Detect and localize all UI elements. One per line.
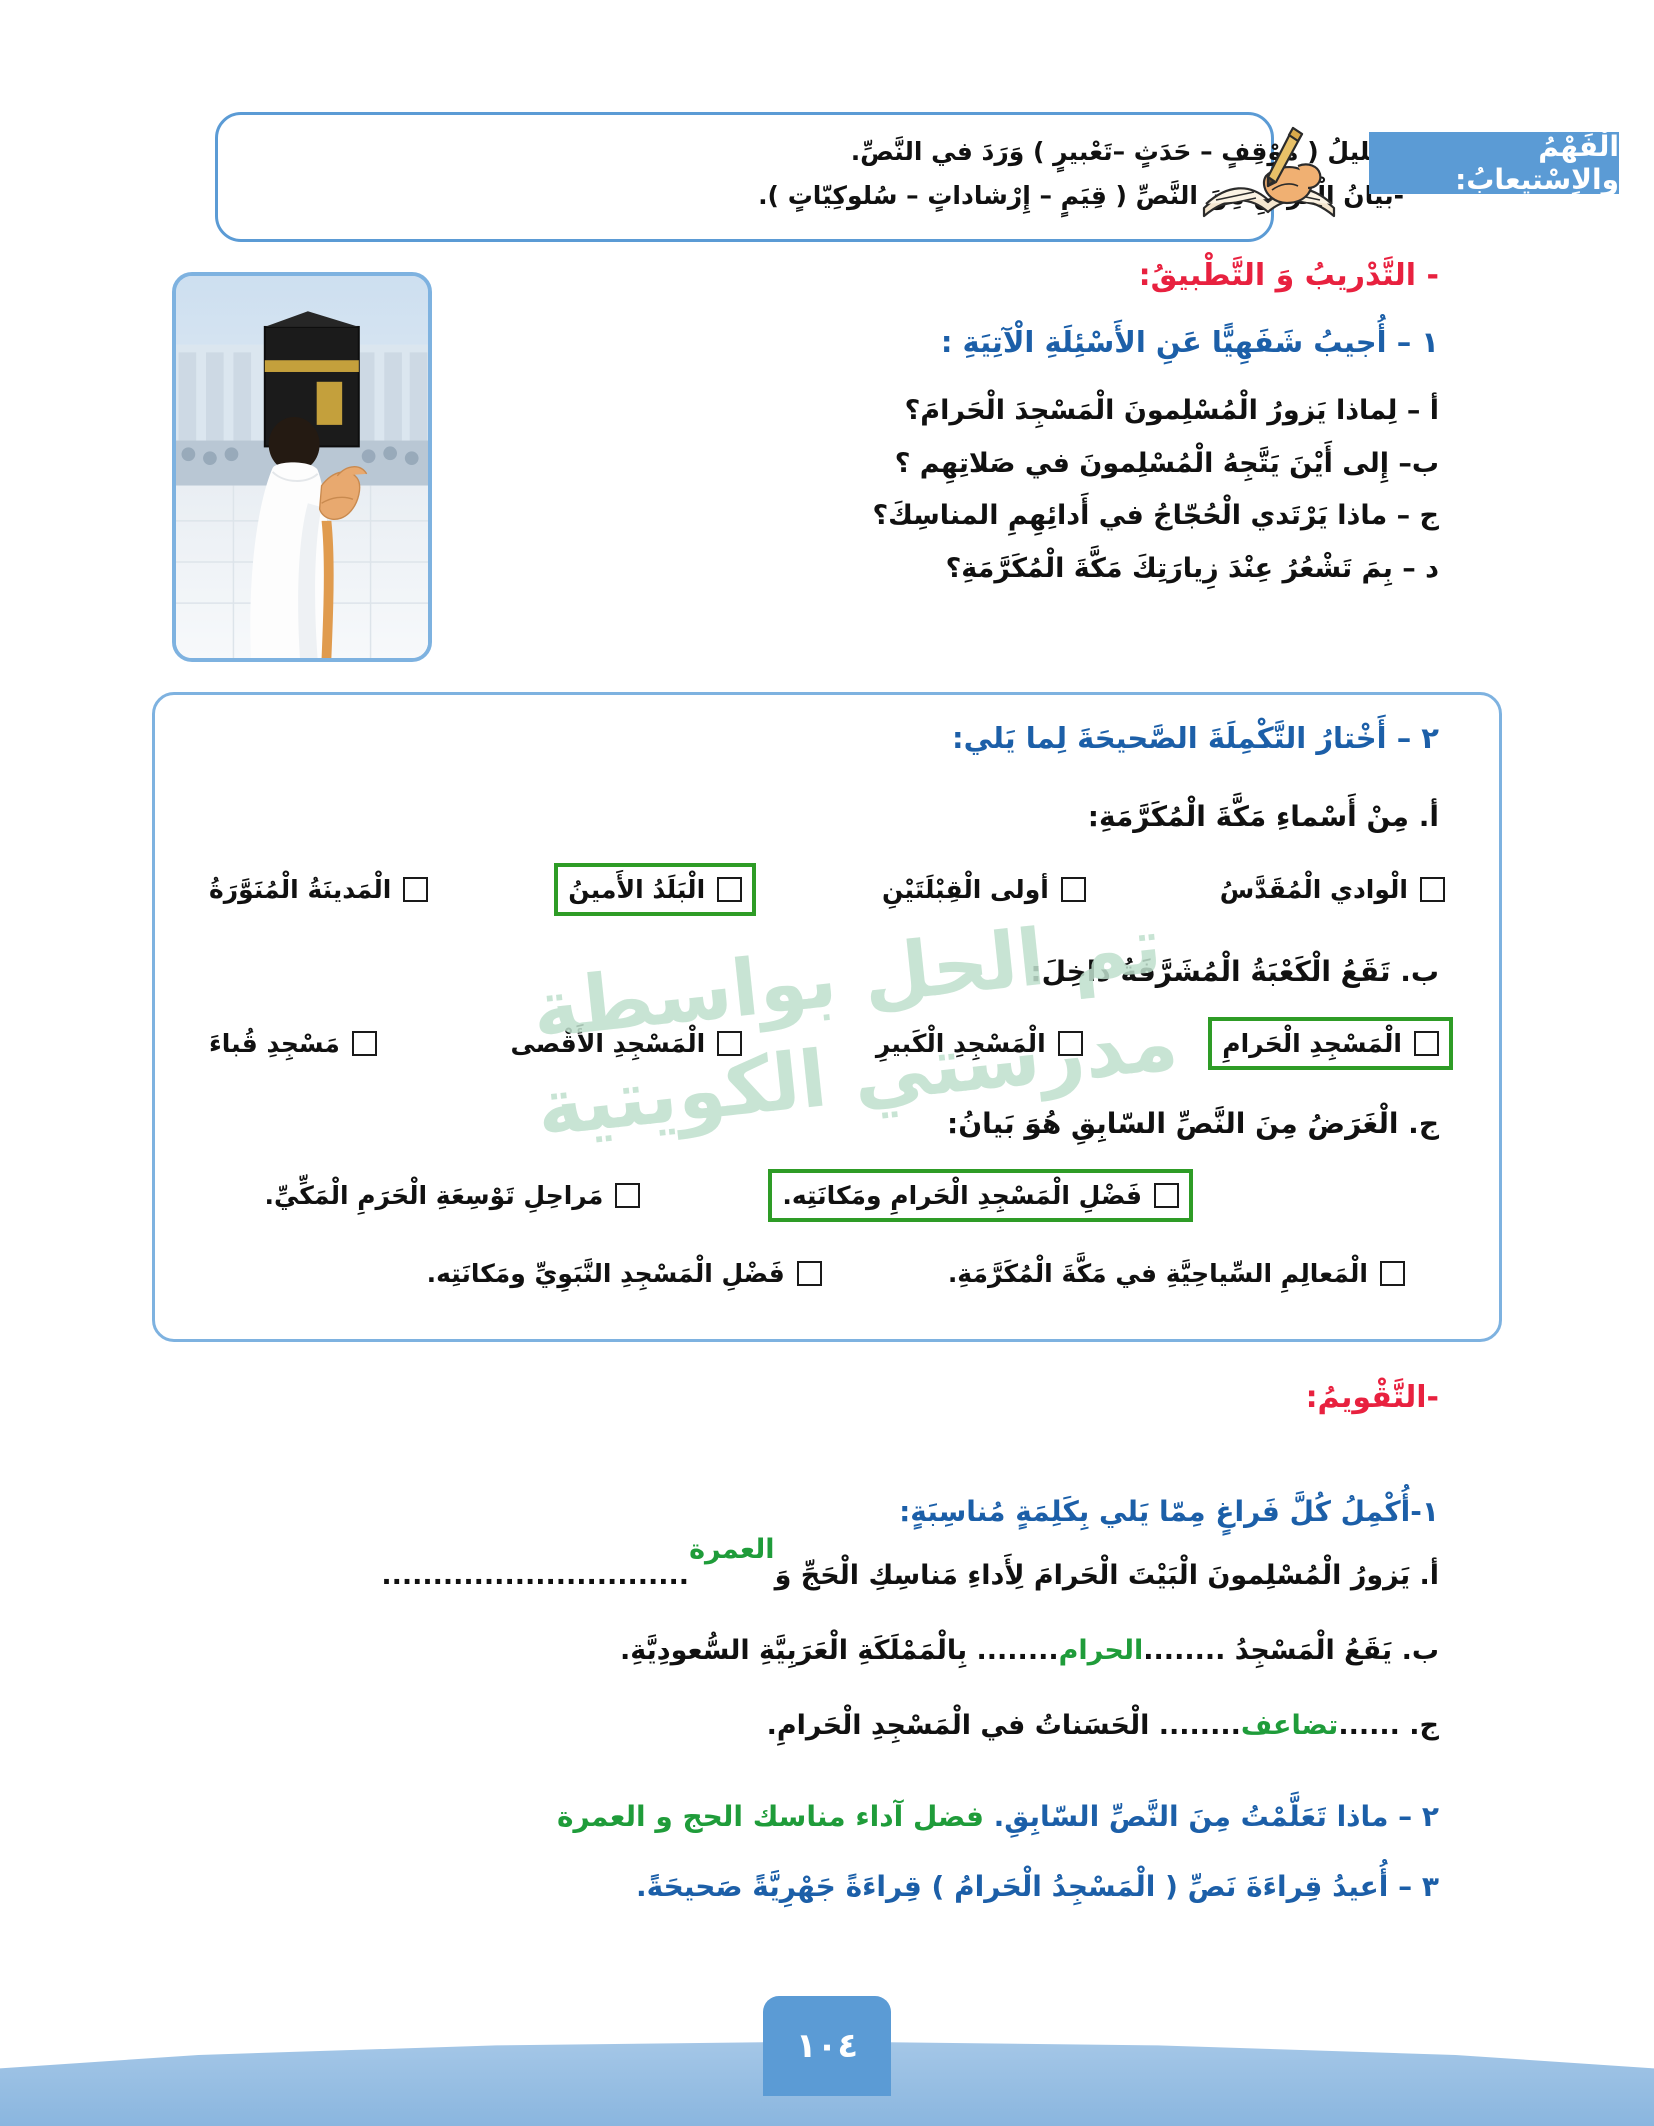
mcq-option-label: الْمَدينَةُ الْمُنَوَّرَةُ [209,875,391,904]
fill-blank-b-answer: الحرام [1059,1635,1144,1666]
mcq-option-b-3[interactable]: الْمَسْجِدِ الأَقْصى [502,1025,750,1062]
mcq-option-label: الْمَسْجِدِ الأَقْصى [510,1029,705,1058]
checkbox-icon[interactable] [1154,1183,1179,1208]
checkbox-icon[interactable] [1380,1261,1405,1286]
mcq-option-a-2[interactable]: أولى الْقِبْلَتَيْنِ [874,871,1094,908]
fill-blank-a-answer: العمرة [689,1534,774,1565]
fill-blank-b: ب. يَقَعُ الْمَسْجِدُ ........الحرام....… [620,1635,1439,1666]
evaluation-heading: -التَّقْويمُ: [1306,1380,1439,1415]
question-1-item-a: أ – لِماذا يَزورُ الْمُسْلِمونَ الْمَسْج… [872,385,1439,438]
question-1-title: ١ – أُجيبُ شَفَهِيًّا عَنِ الأَسْئِلَةِ … [941,325,1439,359]
evaluation-q2: ٢ – ماذا تَعَلَّمْتُ مِنَ النَّصِّ السّا… [557,1800,1439,1833]
mcq-option-a-1[interactable]: الْوادي الْمُقَدَّسُ [1212,871,1453,908]
fill-blank-b-dots2: ........ [977,1635,1059,1666]
mcq-option-label: الْبَلَدُ الأَمينُ [568,875,705,904]
question-2-panel: ٢ – أَخْتارُ التَّكْمِلَةَ الصَّحيحَةَ ل… [152,692,1502,1342]
mcq-option-label: الْمَعالِمِ السِّياحِيَّةِ في مَكَّةَ ال… [948,1259,1368,1288]
mcq-option-c-3[interactable]: الْمَعالِمِ السِّياحِيَّةِ في مَكَّةَ ال… [940,1255,1413,1292]
checkbox-icon[interactable] [797,1261,822,1286]
checkbox-icon[interactable] [1420,877,1445,902]
mcq-options-c-row-1: فَضْلِ الْمَسْجِدِ الْحَرامِ ومَكانَتِه.… [201,1169,1453,1222]
evaluation-q1-title: ١-أُكْمِلُ كُلَّ فَراغٍ مِمّا يَلي بِكَل… [899,1495,1439,1528]
mcq-option-label: فَضْلِ الْمَسْجِدِ النَّبَوِيِّ ومَكانَت… [427,1259,785,1288]
fill-blank-c-suffix: الْحَسَناتُ في الْمَسْجِدِ الْحَرامِ. [767,1710,1159,1741]
question-1-item-d: د – بِمَ تَشْعُرُ عِنْدَ زِيارَتِكَ مَكَ… [872,543,1439,596]
fill-blank-a-dots: .............................. [381,1560,689,1591]
mcq-option-label: الْمَسْجِدِ الْكَبيرِ [876,1029,1046,1058]
checkbox-icon[interactable] [352,1031,377,1056]
mcq-stem-b: ب. تَقَعُ الْكَعْبَةُ الْمُشَرَّفَةُ داخ… [1030,955,1439,988]
mcq-stem-c: ج. الْغَرَضُ مِنَ النَّصِّ السّابِقِ هُو… [947,1107,1439,1140]
checkbox-icon[interactable] [1414,1031,1439,1056]
mcq-option-label: مَراحِلِ تَوْسِعَةِ الْحَرَمِ الْمَكِّيِ… [264,1181,603,1210]
checkbox-icon[interactable] [1058,1031,1083,1056]
fill-blank-c-answer: تضاعف [1241,1710,1338,1741]
mcq-option-label: الْمَسْجِدِ الْحَرامِ [1222,1029,1402,1058]
mcq-option-label: فَضْلِ الْمَسْجِدِ الْحَرامِ ومَكانَتِه. [782,1181,1142,1210]
mcq-option-b-2[interactable]: الْمَسْجِدِ الْكَبيرِ [868,1025,1091,1062]
question-2-title: ٢ – أَخْتارُ التَّكْمِلَةَ الصَّحيحَةَ ل… [952,721,1439,755]
mcq-option-b-4[interactable]: مَسْجِدِ قُباءَ [201,1025,385,1062]
kaaba-prayer-photo [172,272,432,662]
question-1-item-b: ب– إِلى أَيْنَ يَتَّجِهُ الْمُسْلِمونَ ف… [872,438,1439,491]
fill-blank-b-prefix: ب. يَقَعُ الْمَسْجِدُ [1225,1635,1439,1666]
page-footer: ١٠٤ [0,1976,1654,2126]
checkbox-icon[interactable] [1061,877,1086,902]
objectives-section: -تَعْليلُ ( مَوْقِفٍ – حَدَثٍ –تَعْبيرٍ … [215,112,1444,242]
question-1-list: أ – لِماذا يَزورُ الْمُسْلِمونَ الْمَسْج… [872,385,1439,596]
checkbox-icon[interactable] [615,1183,640,1208]
training-heading: - التَّدْريبُ وَ التَّطْبيقُ: [1139,258,1439,293]
fill-blank-c-dots: ...... [1338,1710,1400,1741]
fill-blank-c-dots2: ........ [1159,1710,1241,1741]
skill-badge: الْفَهْمُ والاِسْتيعابُ: [1369,132,1619,194]
mcq-options-c-row-2: الْمَعالِمِ السِّياحِيَّةِ في مَكَّةَ ال… [201,1255,1453,1292]
mcq-options-b: الْمَسْجِدِ الْحَرامِ الْمَسْجِدِ الْكَب… [201,1017,1453,1070]
mcq-option-b-1[interactable]: الْمَسْجِدِ الْحَرامِ [1208,1017,1453,1070]
checkbox-icon[interactable] [717,877,742,902]
fill-blank-a: أ. يَزورُ الْمُسْلِمونَ الْبَيْتَ الْحَر… [381,1560,1439,1591]
mcq-stem-a: أ. مِنْ أَسْماءِ مَكَّةَ الْمُكَرَّمَةِ: [1088,800,1439,833]
mcq-option-c-1[interactable]: فَضْلِ الْمَسْجِدِ الْحَرامِ ومَكانَتِه. [768,1169,1193,1222]
textbook-page: تم الحل بواسطة مدرستي الكويتية -تَعْليلُ… [0,0,1654,2126]
fill-blank-c: ج. ......تضاعف........ الْحَسَناتُ في ال… [767,1710,1439,1741]
checkbox-icon[interactable] [403,877,428,902]
evaluation-q2-answer: فضل آداء مناسك الحج و العمرة [557,1800,984,1833]
fill-blank-c-prefix: ج. [1400,1710,1439,1741]
evaluation-q2-prompt: ٢ – ماذا تَعَلَّمْتُ مِنَ النَّصِّ السّا… [994,1800,1439,1833]
mcq-option-label: مَسْجِدِ قُباءَ [209,1029,340,1058]
fill-blank-a-prefix: أ. يَزورُ الْمُسْلِمونَ الْبَيْتَ الْحَر… [775,1560,1439,1591]
mcq-option-label: الْوادي الْمُقَدَّسُ [1220,875,1408,904]
mcq-option-a-3[interactable]: الْبَلَدُ الأَمينُ [554,863,756,916]
mcq-option-label: أولى الْقِبْلَتَيْنِ [882,875,1049,904]
notebook-pencil-icon [1194,120,1344,230]
question-1-item-c: ج – ماذا يَرْتَدي الْحُجّاجُ في أَدائِهِ… [872,490,1439,543]
mcq-option-c-4[interactable]: فَضْلِ الْمَسْجِدِ النَّبَوِيِّ ومَكانَت… [419,1255,830,1292]
mcq-option-c-2[interactable]: مَراحِلِ تَوْسِعَةِ الْحَرَمِ الْمَكِّيِ… [256,1177,648,1214]
page-number: ١٠٤ [763,1996,891,2096]
fill-blank-b-dots: ........ [1143,1635,1225,1666]
mcq-options-a: الْبَلَدُ الأَمينُ الْوادي الْمُقَدَّسُ … [201,863,1453,916]
checkbox-icon[interactable] [717,1031,742,1056]
evaluation-q3: ٣ – أُعيدُ قِراءَةَ نَصِّ ( الْمَسْجِدُ … [636,1870,1439,1903]
fill-blank-b-suffix: بِالْمَمْلَكَةِ الْعَرَبِيَّةِ السُّعودِ… [620,1635,977,1666]
mcq-option-a-4[interactable]: الْمَدينَةُ الْمُنَوَّرَةُ [201,871,436,908]
